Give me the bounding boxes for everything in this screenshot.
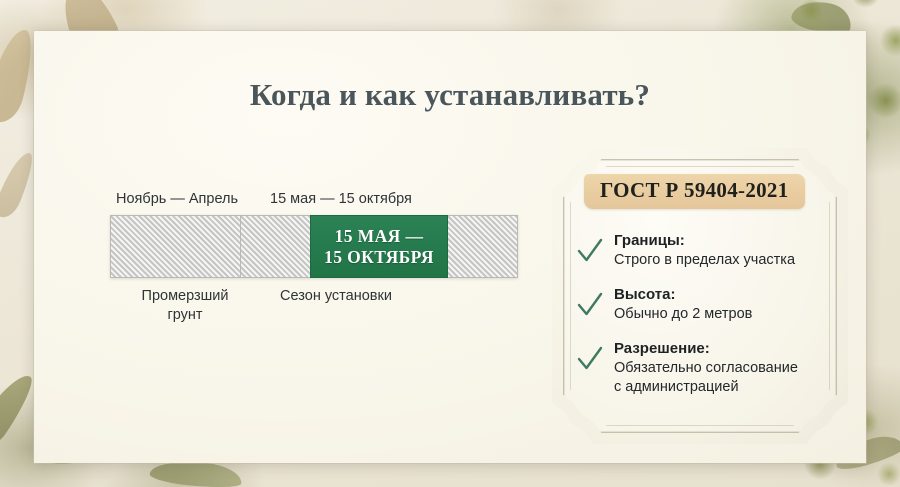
timeline-caption-install-season: Сезон установки: [260, 287, 412, 306]
requirement-description: Строго в пределах участка: [614, 251, 795, 270]
timeline-segment-install-season: 15 МАЯ — 15 ОКТЯБРЯ: [310, 215, 448, 278]
timeline-segment-frozen-left: [110, 215, 240, 278]
timeline-highlight-line-2: 15 ОКТЯБРЯ: [324, 247, 434, 267]
requirements-list: Границы: Строго в пределах участка Высот…: [576, 231, 828, 396]
timeline-segment-frozen-right: [448, 215, 518, 278]
season-timeline: Ноябрь — Апрель 15 мая — 15 октября 15 М…: [78, 191, 498, 333]
list-item: Разрешение: Обязательно согласование с а…: [576, 339, 828, 396]
page-title: Когда и как устанавливать?: [34, 77, 866, 113]
list-item: Границы: Строго в пределах участка: [576, 231, 828, 270]
check-icon: [576, 236, 604, 266]
standard-requirements-card: ГОСТ Р 59404-2021 Границы: Строго в пред…: [552, 148, 848, 444]
timeline-highlight-line-1: 15 МАЯ —: [335, 226, 424, 246]
timeline-label-install-period: 15 мая — 15 октября: [270, 191, 412, 207]
list-item: Высота: Обычно до 2 метров: [576, 285, 828, 324]
requirement-title: Границы:: [614, 232, 795, 250]
status-badge: ГОСТ Р 59404-2021: [584, 174, 805, 209]
timeline-bottom-labels: Промерзший грунт Сезон установки: [78, 287, 498, 333]
card-content: ГОСТ Р 59404-2021 Границы: Строго в пред…: [576, 174, 828, 396]
timeline-label-frozen-period: Ноябрь — Апрель: [116, 191, 238, 207]
requirement-description: Обязательно согласование с администрацие…: [614, 359, 798, 396]
check-icon: [576, 290, 604, 320]
check-icon: [576, 344, 604, 374]
dried-leaf-icon: [0, 148, 38, 221]
requirement-title: Разрешение:: [614, 340, 798, 358]
timeline-bar: 15 МАЯ — 15 ОКТЯБРЯ: [110, 215, 518, 278]
timeline-top-labels: Ноябрь — Апрель 15 мая — 15 октября: [78, 191, 498, 215]
requirement-description: Обычно до 2 метров: [614, 305, 752, 324]
requirement-title: Высота:: [614, 286, 752, 304]
timeline-segment-frozen-mid: [240, 215, 310, 278]
timeline-caption-frozen-ground: Промерзший грунт: [126, 287, 244, 325]
slide-panel: Когда и как устанавливать? Ноябрь — Апре…: [34, 31, 866, 463]
